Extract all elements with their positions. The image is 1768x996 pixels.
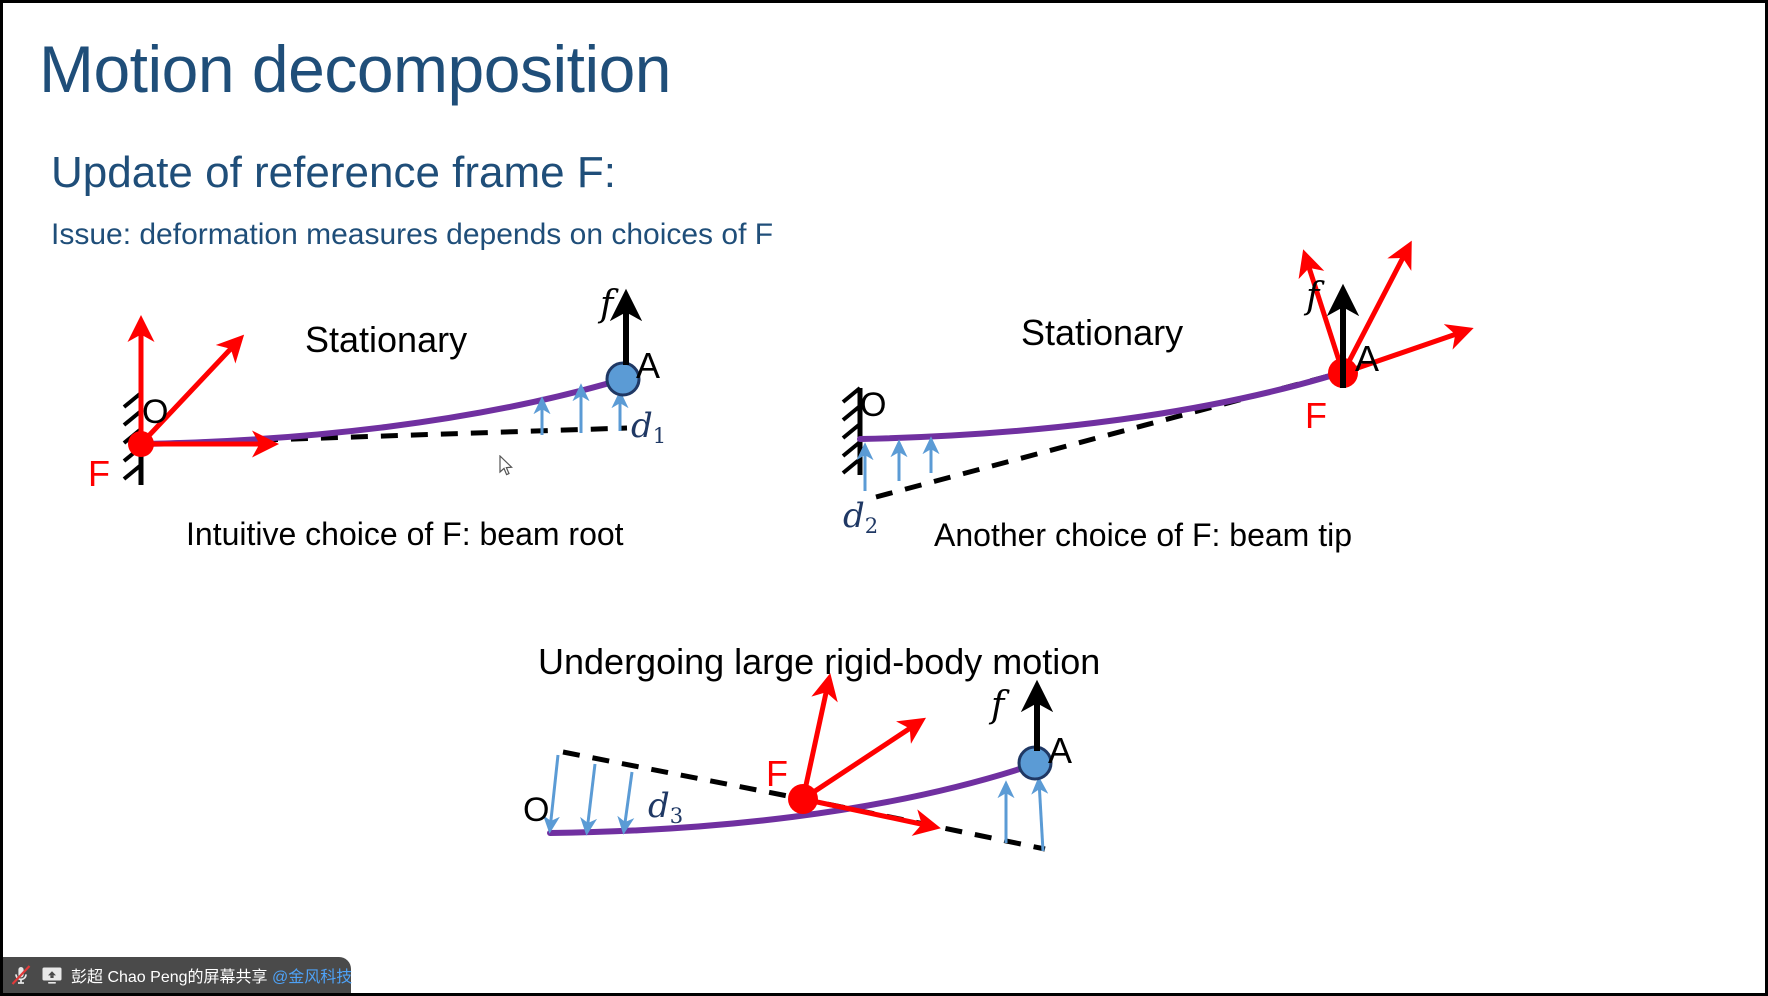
diagram-artwork: [3, 3, 1768, 996]
frame-origin-node-bottom: [788, 784, 818, 814]
force-label-left: f: [600, 284, 613, 325]
force-label-bottom: f: [991, 685, 1004, 726]
presenter-name: 彭超 Chao Peng的屏幕共享: [71, 969, 272, 986]
deflection-subscript-bottom: 3: [670, 803, 683, 828]
state-label-bottom: Undergoing large rigid-body motion: [538, 641, 1100, 683]
frame-label-bottom: F: [766, 753, 788, 795]
deflection-label-right: d2: [843, 496, 878, 538]
state-label-left: Stationary: [305, 319, 467, 361]
origin-label-left: O: [142, 393, 168, 432]
presenter-company: @金风科技: [272, 969, 352, 986]
deflection-subscript-right: 2: [865, 513, 878, 538]
presentation-slide: Motion decomposition Update of reference…: [0, 0, 1768, 996]
screen-share-taskbar[interactable]: 彭超 Chao Peng的屏幕共享 @金风科技: [3, 957, 351, 993]
deflection-arrows-right: [865, 441, 931, 491]
deflection-label-left: d1: [631, 406, 666, 448]
tip-label-left: A: [636, 345, 660, 387]
caption-right: Another choice of F: beam tip: [934, 517, 1352, 554]
origin-label-right: O: [860, 386, 886, 425]
caption-left: Intuitive choice of F: beam root: [186, 516, 624, 553]
deflection-symbol-left: d: [631, 406, 653, 446]
deflection-symbol-bottom: d: [648, 786, 670, 826]
tip-label-right: A: [1355, 338, 1379, 380]
force-label-right: f: [1306, 276, 1319, 317]
diagram-bottom: [550, 679, 1051, 851]
deflection-subscript-left: 1: [653, 423, 666, 448]
deflection-label-bottom: d3: [648, 786, 683, 828]
deformed-beam-right: [860, 373, 1340, 439]
frame-label-left: F: [88, 453, 110, 495]
mouse-pointer-icon: [499, 455, 515, 477]
tip-label-bottom: A: [1048, 730, 1072, 772]
deflection-symbol-right: d: [843, 496, 865, 536]
deformed-beam-left: [141, 380, 620, 444]
microphone-muted-icon[interactable]: [9, 963, 33, 987]
deflection-arrows-bottom: [550, 755, 632, 831]
share-status-text: 彭超 Chao Peng的屏幕共享 @金风科技: [71, 963, 352, 987]
state-label-right: Stationary: [1021, 312, 1183, 354]
origin-label-bottom: O: [523, 791, 549, 830]
tip-node-left: [607, 363, 639, 395]
frame-label-right: F: [1305, 395, 1327, 437]
screen-share-icon[interactable]: [40, 963, 64, 987]
tip-node-bottom: [1019, 747, 1051, 779]
wall-support-right: [843, 388, 860, 475]
frame-origin-node-left: [128, 431, 154, 457]
frame-axes-right: [1305, 246, 1468, 373]
